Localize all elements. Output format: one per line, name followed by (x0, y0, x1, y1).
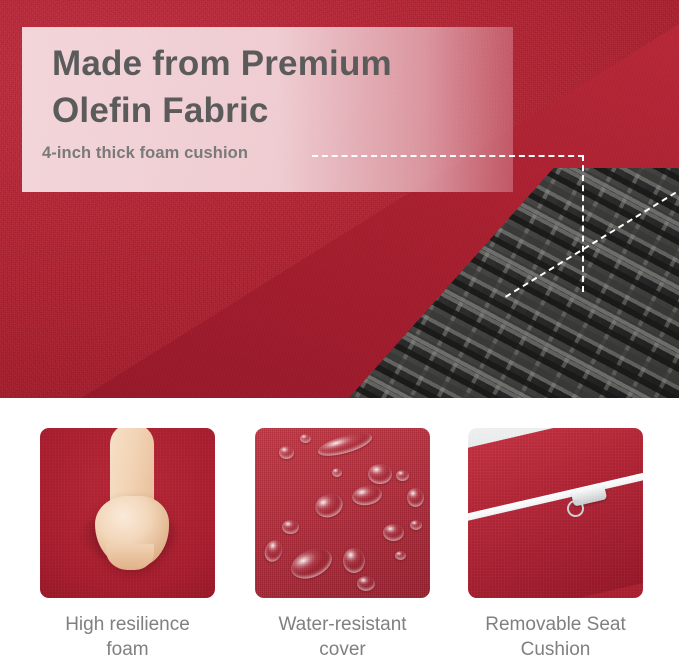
water-droplet (368, 464, 392, 484)
water-droplet (383, 524, 404, 541)
feature-caption: Removable Seat Cushion (468, 612, 643, 662)
water-droplet (395, 551, 406, 560)
feature-highlights-strip: High resilience foam Water-resistant cov… (0, 398, 679, 652)
water-droplet (332, 468, 342, 477)
fist-pressing-foam-photo (40, 428, 215, 598)
water-droplet (343, 548, 365, 573)
feature-card-high-resilience-foam: High resilience foam (40, 428, 215, 662)
water-droplet (396, 470, 409, 481)
water-droplet (407, 488, 424, 507)
callout-vertical-dashed-line (582, 155, 584, 292)
feature-caption: Water-resistant cover (255, 612, 430, 662)
hero-subheadline: 4-inch thick foam cushion (42, 144, 248, 163)
zipper-fabric-texture (468, 428, 643, 598)
water-droplet (282, 520, 299, 534)
feature-card-removable-seat-cushion: Removable Seat Cushion (468, 428, 643, 662)
hero-product-image: Made from Premium Olefin Fabric 4-inch t… (0, 0, 679, 398)
water-droplet (410, 520, 422, 530)
hero-headline: Made from Premium Olefin Fabric (52, 40, 522, 134)
feature-card-water-resistant-cover: Water-resistant cover (255, 428, 430, 662)
water-droplet (279, 446, 294, 459)
water-droplets-fabric-photo (255, 428, 430, 598)
water-droplet (357, 576, 375, 591)
callout-horizontal-dashed-line (312, 155, 584, 157)
feature-caption: High resilience foam (40, 612, 215, 662)
water-droplet (300, 434, 311, 443)
zipper-cushion-cover-photo (468, 428, 643, 598)
